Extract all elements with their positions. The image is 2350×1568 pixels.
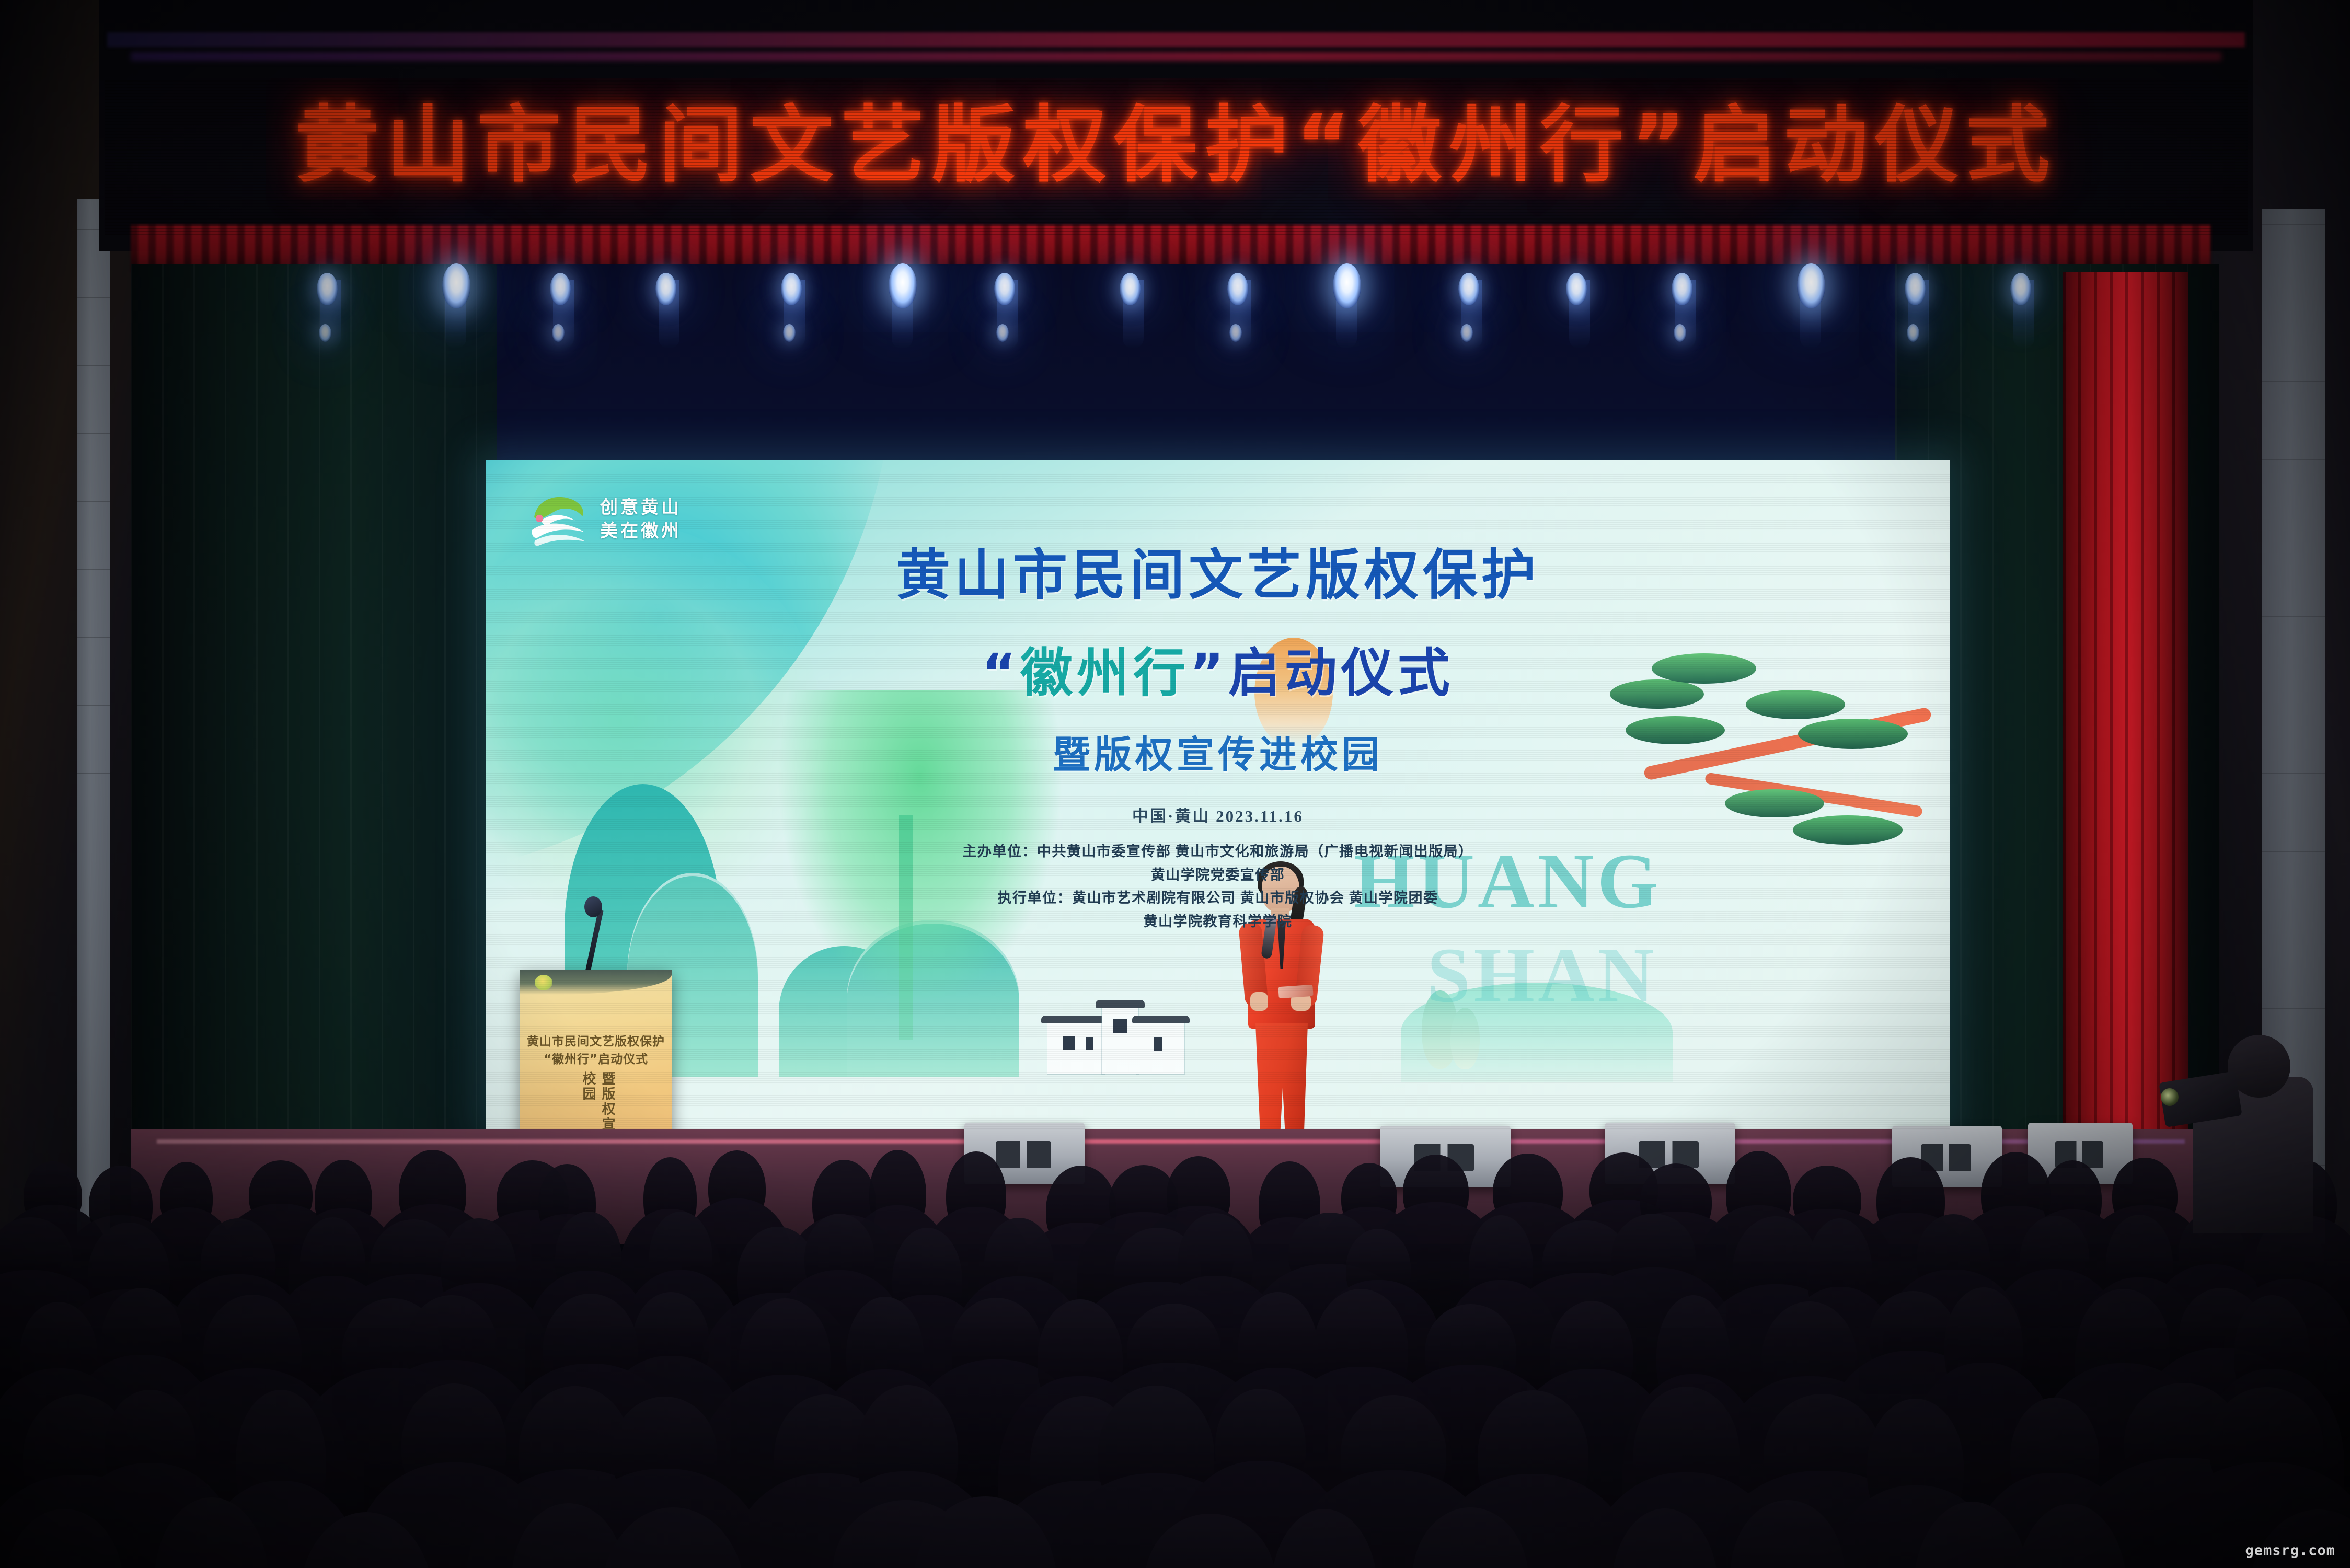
audience-member	[951, 1298, 1042, 1394]
presenter-cue-card	[1278, 985, 1313, 999]
audience-member	[946, 1151, 1006, 1238]
screen-title-line2: “徽州行”启动仪式	[486, 630, 1950, 706]
stage-light-lower	[783, 324, 796, 342]
hall-column-left	[77, 199, 110, 1249]
audience-member	[857, 1385, 959, 1519]
stage-light	[994, 273, 1015, 305]
stage-light	[889, 263, 917, 308]
stage-light-lower	[1674, 324, 1686, 342]
audience-member	[804, 1214, 874, 1302]
screen-title-block: 黄山市民间文艺版权保护 “徽州行”启动仪式 暨版权宣传进校园 中国·黄山 202…	[486, 531, 1950, 933]
quote-open: “	[982, 642, 1020, 704]
led-banner: 黄山市民间文艺版权保护“徽州行”启动仪式	[105, 78, 2248, 235]
audience-member	[1611, 1214, 1696, 1298]
logo-text-line1: 创意黄山	[600, 498, 682, 518]
stage-light	[1566, 273, 1587, 305]
led-banner-text: 黄山市民间文艺版权保护“徽州行”启动仪式	[105, 103, 2248, 187]
podium-logo-icon	[535, 975, 552, 990]
stage-light	[1672, 273, 1692, 305]
audience-member	[1127, 1304, 1220, 1396]
stage-light	[655, 273, 676, 305]
organizer-line: 黄山学院教育科学学院	[486, 910, 1950, 933]
camera-lens-icon	[2161, 1088, 2179, 1106]
audience-member	[708, 1150, 766, 1225]
stage-light	[1227, 273, 1248, 305]
organizer-line: 执行单位：黄山市艺术剧院有限公司 黄山市版权协会 黄山学院团委	[486, 886, 1950, 910]
audience-member	[101, 1288, 182, 1392]
audience-member	[2209, 1387, 2323, 1504]
camera-operator	[2162, 1014, 2319, 1233]
audience-member	[555, 1212, 621, 1304]
audience-member	[1341, 1395, 1446, 1512]
stage-light-lower	[552, 324, 565, 342]
audience-member	[1403, 1155, 1469, 1229]
organizer-line: 黄山学院党委宣传部	[486, 863, 1950, 887]
audience-member	[1764, 1394, 1881, 1515]
quote-close: ”	[1190, 642, 1228, 704]
audience-member	[869, 1150, 926, 1237]
presenter-hand-left	[1250, 992, 1268, 1011]
huizhou-house-graphic	[1040, 996, 1192, 1074]
audience-member	[236, 1390, 326, 1532]
audience-member	[1215, 1389, 1306, 1502]
audience-member	[406, 1295, 497, 1397]
podium-title-line2: “徽州行”启动仪式	[520, 1049, 672, 1067]
audience-member	[105, 1390, 196, 1504]
stage-light-lower	[996, 324, 1009, 342]
audience-member	[1869, 1291, 1956, 1384]
stage-light-lower	[1907, 324, 1919, 342]
audience-member	[2010, 1398, 2099, 1516]
stage-light	[442, 263, 470, 308]
curtain-left	[131, 264, 497, 1205]
audience-member	[160, 1162, 213, 1233]
audience-member	[2020, 1216, 2089, 1299]
stage-event-photo: 黄山市民间文艺版权保护“徽州行”启动仪式	[0, 0, 2350, 1568]
stage-light-lower	[1229, 324, 1242, 342]
audience-member	[1425, 1304, 1516, 1399]
organizer-line: 主办单位：中共黄山市委宣传部 黄山市文化和旅游局（广播电视新闻出版局）	[486, 840, 1950, 863]
audience	[0, 1108, 2350, 1568]
screen-watermark-shan: SHAN	[1427, 930, 1657, 1020]
screen-date-line: 中国·黄山 2023.11.16	[486, 803, 1950, 826]
stage-light	[2010, 273, 2031, 305]
audience-member	[1633, 1387, 1740, 1520]
stage-light	[781, 273, 802, 305]
led-presentation-screen: HUANG SHAN 创意黄山 美在徽州 黄山市民间文艺版权保护 “徽州行”启动	[486, 460, 1950, 1129]
audience-member	[1178, 1213, 1253, 1311]
audience-member	[1314, 1289, 1408, 1411]
stage-light	[550, 273, 571, 305]
audience-member	[984, 1218, 1054, 1309]
audience-member	[1550, 1301, 1633, 1406]
audience-member	[612, 1397, 717, 1509]
stage-light-lower	[1460, 324, 1473, 342]
podium-title-line1: 黄山市民间文艺版权保护	[520, 1031, 672, 1049]
stage-light-lower	[319, 324, 331, 342]
stage-light	[1333, 263, 1361, 308]
stage-light	[1458, 273, 1479, 305]
audience-member	[649, 1212, 713, 1303]
audience-member	[201, 1218, 275, 1306]
stage-light	[1120, 273, 1141, 305]
audience-member	[1478, 1390, 1588, 1521]
stage-light	[1905, 273, 1926, 305]
arch-light-strip-secondary	[131, 52, 2221, 61]
stage-light	[317, 273, 338, 305]
audience-member	[1944, 1287, 2023, 1405]
audience-member	[401, 1383, 506, 1506]
screen-title-huizhouxing: 徽州行	[1020, 642, 1190, 704]
screen-title-line1: 黄山市民间文艺版权保护	[486, 531, 1950, 609]
audience-member	[632, 1292, 709, 1392]
audience-member	[249, 1160, 312, 1228]
arch-light-strip	[107, 32, 2245, 47]
screen-title-line2-rest: 启动仪式	[1228, 642, 1454, 704]
site-watermark: gemsrg.com	[2245, 1542, 2335, 1559]
screen-title-line3: 暨版权宣传进校园	[486, 724, 1950, 779]
lighting-truss	[314, 246, 2038, 382]
stage-light	[1797, 263, 1825, 308]
screen-organizers: 主办单位：中共黄山市委宣传部 黄山市文化和旅游局（广播电视新闻出版局） 黄山学院…	[486, 840, 1950, 933]
